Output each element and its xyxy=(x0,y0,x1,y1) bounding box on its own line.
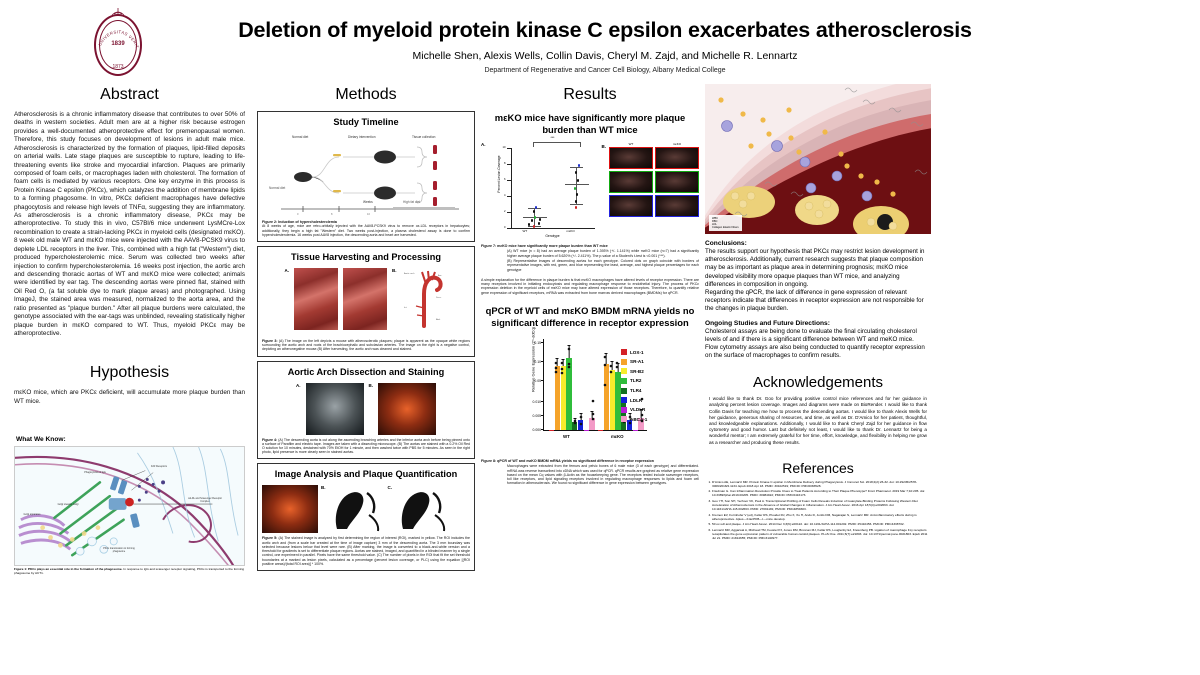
page-title: Deletion of myeloid protein kinase C eps… xyxy=(160,18,1050,43)
timeline-svg: Normal diet Weeks High fat diet 8 10 0 xyxy=(262,131,470,217)
college-seal-icon: UNIVERSITAS VERITAS CONCORDIA 1839 1873 xyxy=(90,8,146,78)
panel-letter-a: A. xyxy=(296,383,301,388)
legend-label-sra1: SR-A1 xyxy=(630,359,644,364)
reference-item: D'Amico AE, Lennartz MR. Protein Kinase … xyxy=(712,480,931,488)
figure-8-caption-title: Figure 8: qPCR of WT and mεKO BMDM mRNA … xyxy=(481,459,654,463)
figure-2-study-timeline: Normal diet Dietary intervention Tissue … xyxy=(262,131,470,217)
affiliation: Department of Regenerative and Cancer Ce… xyxy=(160,67,1050,74)
figure-1-phagosome-diagram: Phagocytosis of IgG FcR Receptors oxLDL … xyxy=(14,446,245,566)
qpcr-bar-wt-abca1 xyxy=(589,418,594,430)
artery-legend-collagen: Collagen Elastin Fibers xyxy=(712,226,739,229)
column-methods: Methods Study Timeline Normal diet Dieta… xyxy=(257,84,475,576)
aorta-image-ko-avg xyxy=(655,171,699,193)
label-golgi-apparatus: Golgi apparatus xyxy=(19,513,45,516)
unstained-aorta-photo xyxy=(306,383,364,435)
legend-swatch-sra1 xyxy=(621,359,627,365)
scatter-point-ko-avg xyxy=(574,187,577,190)
scatter-point-ko-min xyxy=(575,206,578,209)
qpcr-ytick-2: 0.010 xyxy=(520,400,541,404)
scatter-point-wt-min xyxy=(533,225,536,228)
legend-item-sra1: SR-A1 xyxy=(621,359,663,365)
svg-text:Normal diet: Normal diet xyxy=(269,186,285,190)
legend-label-vldlr: VLDLR xyxy=(630,407,645,412)
label-phagocytosis-igg: Phagocytosis of IgG xyxy=(77,471,113,474)
legend-item-tlr4: TLR4 xyxy=(621,388,663,394)
scatter-ytick-4: 8 xyxy=(491,162,506,165)
conclusions-heading: Conclusions: xyxy=(705,240,931,247)
panel-letter-a: A. xyxy=(481,142,486,147)
svg-text:0: 0 xyxy=(297,212,299,216)
figure-4-caption: Figure 4: (A) The descending aorta is cu… xyxy=(262,438,470,455)
figure-8-caption: Figure 8: qPCR of WT and mεKO BMDM mRNA … xyxy=(481,459,699,485)
scatter-ytick-3: 6 xyxy=(491,178,506,181)
aorta-image-ko-least xyxy=(655,147,699,169)
qpcr-bar-wt-tlr4 xyxy=(572,422,577,430)
qpcr-bar-wt-lox1 xyxy=(549,430,554,431)
plaque-burden-scatter-chart: Percent Lesion Coverage Genotype 0 2 4 6… xyxy=(489,142,599,240)
qpcr-ytick-4: 0.10 xyxy=(520,360,541,364)
svg-text:Int.: Int. xyxy=(404,306,407,309)
poster-root: UNIVERSITAS VERITAS CONCORDIA 1839 1873 … xyxy=(0,0,1200,675)
legend-swatch-tlr4 xyxy=(621,388,627,394)
results-heading: Results xyxy=(481,86,699,104)
results-transition-text: A simple explanation for the difference … xyxy=(481,278,699,295)
svg-text:Weeks: Weeks xyxy=(363,200,373,204)
scatter-y-axis xyxy=(511,148,512,228)
legend-label-lox1: LOX-1 xyxy=(630,350,644,355)
qpcr-title: qPCR of WT and mεKO BMDM mRNA yields no … xyxy=(481,305,699,329)
legend-label-abca1: ABCA-1 xyxy=(630,417,647,422)
abstract-heading: Abstract xyxy=(14,86,245,104)
binary-trace-svg-2 xyxy=(395,485,451,533)
seal-year-second: 1873 xyxy=(90,64,146,70)
qpcr-xtick-meko: mεKO xyxy=(611,434,624,439)
legend-swatch-vldlr xyxy=(621,407,627,413)
svg-text:Desc.: Desc. xyxy=(436,297,442,299)
qpcr-ytick-0: 0.000 xyxy=(520,428,541,432)
hypothesis-body: mεKO mice, which are PKCε deficient, wil… xyxy=(14,389,245,406)
qpcr-ytick-1: 0.005 xyxy=(520,414,541,418)
threshold-binary-image-2 xyxy=(395,485,451,533)
aorta-image-wt-least xyxy=(609,147,653,169)
title-block: Deletion of myeloid protein kinase C eps… xyxy=(160,12,1200,74)
study-timeline-title: Study Timeline xyxy=(262,117,470,127)
artery-legend: WBC RBC LDL Collagen Elastin Fibers xyxy=(709,215,742,231)
qpcr-bar-ko-srb2 xyxy=(610,370,615,430)
qpcr-bar-wt-ldlr xyxy=(578,420,583,430)
scatter-ytick-2: 4 xyxy=(491,194,506,197)
scatter-x-axis-label: Genotype xyxy=(511,234,595,238)
legend-swatch-srb2 xyxy=(621,368,627,374)
atherosclerotic-artery-figure: WBC RBC LDL Collagen Elastin Fibers xyxy=(705,84,931,234)
methods-box-aortic-dissection: Aortic Arch Dissection and Staining A. B… xyxy=(257,361,475,460)
legend-item-abca1: ABCA-1 xyxy=(621,416,663,422)
plaque-burden-title: mεKO mice have significantly more plaque… xyxy=(481,112,699,136)
column-conclusions: WBC RBC LDL Collagen Elastin Fibers Conc… xyxy=(705,84,931,576)
scatter-ytick-5: 10 xyxy=(491,146,506,149)
figure-8-caption-text: Macrophages were extracted from the femu… xyxy=(481,464,699,485)
panel-letter-b: B. xyxy=(602,142,607,149)
svg-text:8: 8 xyxy=(331,212,333,216)
qpcr-group-wt xyxy=(549,339,595,430)
svg-text:Aortic arch: Aortic arch xyxy=(404,272,415,275)
legend-item-ldlr: LDLR xyxy=(621,397,663,403)
references-heading: References xyxy=(705,460,931,476)
acknowledgements-text: I would like to thank Dr. Goo for provid… xyxy=(705,396,931,446)
poster-columns: Abstract Atherosclerosis is a chronic in… xyxy=(0,82,1200,576)
tissue-harvesting-title: Tissue Harvesting and Processing xyxy=(262,252,470,262)
qpcr-bar-ko-sra1 xyxy=(604,364,609,430)
figure-1-caption: Figure 1: PKCε plays an essential role i… xyxy=(14,568,245,575)
legend-label-srb2: SR-B2 xyxy=(630,369,644,374)
svg-text:Asc.: Asc. xyxy=(438,274,443,277)
logo-container: UNIVERSITAS VERITAS CONCORDIA 1839 1873 xyxy=(0,8,160,78)
what-we-know-label: What We Know: xyxy=(16,436,245,443)
conclusions-text: The results support our hypothesis that … xyxy=(705,248,931,314)
figure-2-caption: Figure 2: Induction of hypercholesterole… xyxy=(262,220,470,237)
figure-3-images: A. B. Aortic arch Asc. Desc. xyxy=(262,266,470,336)
figure-5-images: B. C. xyxy=(262,483,470,533)
qpcr-bar-chart: Relative Gene Expression (2^-ddCq) 0.000… xyxy=(517,335,663,453)
figure-7-caption-b: (B) Representative images of descending … xyxy=(507,259,699,272)
legend-item-lox1: LOX-1 xyxy=(621,349,663,355)
qpcr-legend: LOX-1 SR-A1 SR-B2 TLR2 TLR4 LDLR VLDLR A… xyxy=(621,349,663,426)
legend-item-tlr2: TLR2 xyxy=(621,378,663,384)
seal-year-founded: 1839 xyxy=(90,41,146,47)
scatter-ytick-0: 0 xyxy=(491,226,506,229)
aorta-image-grid xyxy=(609,147,699,217)
future-directions-text: Cholesterol assays are being done to eva… xyxy=(705,328,931,361)
representative-aorta-images: WT mεKO xyxy=(609,142,699,217)
tl-label-normal-diet: Normal diet xyxy=(292,135,308,139)
legend-swatch-tlr2 xyxy=(621,378,627,384)
panel-letter-c: C. xyxy=(388,485,393,490)
author-list: Michelle Shen, Alexis Wells, Collin Davi… xyxy=(160,50,1050,62)
scatter-point-ko-max xyxy=(578,164,581,167)
figure-2-caption-text: At 8 weeks of age, mice are retro-orbita… xyxy=(262,224,470,236)
panel-letter-a: A. xyxy=(285,268,290,273)
panel-letter-b: B. xyxy=(392,268,397,273)
scatter-point-wt-max xyxy=(535,206,538,209)
aorta-image-ko-max xyxy=(655,195,699,217)
panel-letter-b: B. xyxy=(369,383,374,388)
reference-item: Friedman G. Can Inflammation Resolution … xyxy=(712,489,931,497)
tl-label-dietary-intervention: Dietary intervention xyxy=(348,135,375,139)
legend-item-vldlr: VLDLR xyxy=(621,407,663,413)
legend-item-srb2: SR-B2 xyxy=(621,368,663,374)
binary-trace-svg-1 xyxy=(329,485,385,533)
qpcr-bar-wt-sra1 xyxy=(555,366,560,430)
qpcr-ytick-3: 0.05 xyxy=(520,379,541,383)
legend-label-tlr4: TLR4 xyxy=(630,388,641,393)
figure-3-caption-text: (A) The image on the left depicts a mous… xyxy=(262,339,470,352)
mouse-dissection-photo-positive xyxy=(294,268,338,330)
tl-label-tissue-collection: Tissue collection xyxy=(412,135,435,139)
qpcr-bar-ko-lox1 xyxy=(598,430,603,431)
scatter-point-wt-avg xyxy=(534,216,537,219)
image-col-label-meko: mεKO xyxy=(655,142,699,146)
legend-swatch-ldlr xyxy=(621,397,627,403)
legend-swatch-lox1 xyxy=(621,349,627,355)
legend-label-ldlr: LDLR xyxy=(630,398,642,403)
qpcr-bar-wt-vldlr xyxy=(584,430,589,431)
figure-5-caption-text: (A) The stained image is analyzed by fir… xyxy=(262,536,470,565)
aortic-dissection-title: Aortic Arch Dissection and Staining xyxy=(262,367,470,377)
column-abstract: Abstract Atherosclerosis is a chronic in… xyxy=(8,84,251,576)
reference-item: Goo YH, Son SH, Yechoor VK, Paul A. Tran… xyxy=(712,499,931,511)
label-golgi-transport: Golgi towards Golgi xyxy=(55,503,81,506)
threshold-binary-image-1 xyxy=(329,485,385,533)
aorta-anatomy-diagram: Aortic arch Asc. Desc. Int. Abd. xyxy=(402,268,448,336)
figure-7-caption-a: (A) WT mice (n = 8) had an average plaqu… xyxy=(507,249,699,257)
figure-3-caption: Figure 3: (A) The image on the left depi… xyxy=(262,339,470,352)
legend-swatch-abca1 xyxy=(621,416,627,422)
image-col-label-wt: WT xyxy=(609,142,653,146)
scatter-xtick-meko: mεKO xyxy=(567,229,575,233)
label-pkce-translocation: PKCε translocation to forming phagosome xyxy=(99,547,139,553)
qpcr-bar-ko-tlr2 xyxy=(615,372,620,430)
image-analysis-title: Image Analysis and Plaque Quantification xyxy=(262,469,470,479)
figure-7-caption-title: Figure 7: mεKO mice have significantly m… xyxy=(481,244,608,248)
abstract-body: Atherosclerosis is a chronic inflammator… xyxy=(14,111,245,338)
qpcr-ytick-5: 0.15 xyxy=(520,341,541,345)
qpcr-xtick-wt: WT xyxy=(563,434,570,439)
figure-4-caption-text: (A) The descending aorta is cut along th… xyxy=(262,438,470,455)
figure-4-images: A. B. xyxy=(262,381,470,435)
svg-text:10: 10 xyxy=(367,212,370,216)
label-fcr-receptors: FcR Receptors xyxy=(145,465,173,468)
scatter-xtick-wt: WT xyxy=(523,229,528,233)
panel-letter-b: B. xyxy=(321,485,326,490)
future-directions-heading: Ongoing Studies and Future Directions: xyxy=(705,320,931,327)
aorta-image-wt-avg xyxy=(609,171,653,193)
figure-7-caption: Figure 7: mεKO mice have significantly m… xyxy=(481,244,699,272)
legend-label-tlr2: TLR2 xyxy=(630,378,641,383)
figure-7-row: A. Percent Lesion Coverage Genotype 0 2 … xyxy=(481,142,699,240)
svg-text:High fat diet: High fat diet xyxy=(403,200,420,204)
aorta-image-wt-max xyxy=(609,195,653,217)
acknowledgements-heading: Acknowledgements xyxy=(705,374,931,391)
reference-item: 50 ox-Ldl and plaque. J Am Heart Assoc. … xyxy=(712,522,931,526)
methods-box-tissue-harvesting: Tissue Harvesting and Processing A. B. A… xyxy=(257,246,475,357)
reference-item: Lennartz MR, Aggarwal A, Michaud TM, Feu… xyxy=(712,528,931,540)
label-oxldl-scavenger: oxLDL and Scavenger Receptor Complex xyxy=(183,497,227,503)
reference-item: Kremen EV, Formhofer V (ed), Keller RS, … xyxy=(712,513,931,521)
oil-red-o-stained-aorta-photo xyxy=(378,383,436,435)
artery-svg xyxy=(705,84,931,234)
column-results: Results mεKO mice have significantly mor… xyxy=(481,84,699,576)
methods-box-study-timeline: Study Timeline Normal diet Dietary inter… xyxy=(257,111,475,242)
significance-marker: *** xyxy=(551,136,555,140)
aorta-svg: Aortic arch Asc. Desc. Int. Abd. xyxy=(402,268,448,330)
roi-marked-aorta-photo xyxy=(262,485,318,533)
qpcr-bar-ko-vldlr xyxy=(633,430,638,431)
methods-heading: Methods xyxy=(257,86,475,104)
qpcr-bar-wt-srb2 xyxy=(561,366,566,430)
references-list: D'Amico AE, Lennartz MR. Protein Kinase … xyxy=(705,480,931,540)
svg-text:Abd.: Abd. xyxy=(436,318,441,321)
figure-5-caption: Figure 5: (A) The stained image is analy… xyxy=(262,536,470,565)
methods-box-image-analysis: Image Analysis and Plaque Quantification… xyxy=(257,463,475,570)
scatter-ytick-1: 2 xyxy=(491,210,506,213)
qpcr-bar-wt-tlr2 xyxy=(566,358,571,430)
mouse-dissection-photo-negative xyxy=(343,268,387,330)
poster-header: UNIVERSITAS VERITAS CONCORDIA 1839 1873 … xyxy=(0,0,1200,82)
hypothesis-heading: Hypothesis xyxy=(14,364,245,382)
